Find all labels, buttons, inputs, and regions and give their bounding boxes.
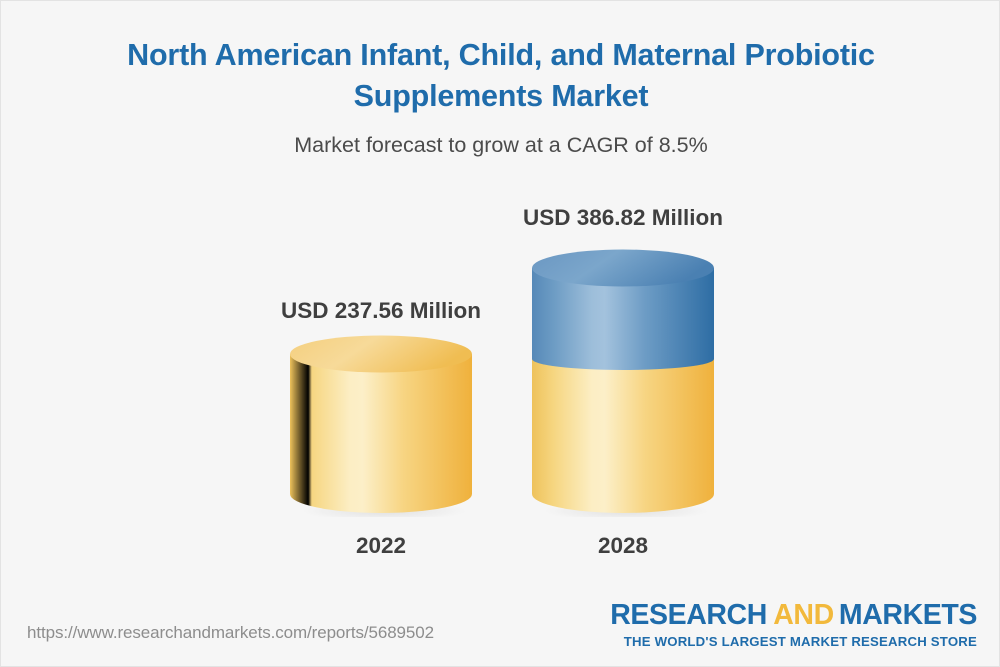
bar-cylinder-2028-svg xyxy=(530,249,716,517)
bar-value-label-2022: USD 237.56 Million xyxy=(201,300,561,323)
bar-cylinder-2022-svg xyxy=(288,335,474,517)
brand-tagline: THE WORLD'S LARGEST MARKET RESEARCH STOR… xyxy=(610,635,977,648)
brand-logo-wordmark: RESEARCHANDMARKETS xyxy=(610,601,977,630)
bar-category-label-2022: 2022 xyxy=(241,535,521,558)
bar-cylinder-2022 xyxy=(288,335,474,517)
brand-word-and: AND xyxy=(773,599,834,631)
brand-word-research: RESEARCH xyxy=(610,599,767,631)
brand-word-markets: MARKETS xyxy=(839,599,977,631)
bar-cylinder-2028 xyxy=(530,249,716,517)
bar-category-label-2028: 2028 xyxy=(483,535,763,558)
chart-plot-area: USD 237.56 Million 2022 xyxy=(1,1,1000,667)
bar-value-label-2028: USD 386.82 Million xyxy=(443,207,803,230)
source-url[interactable]: https://www.researchandmarkets.com/repor… xyxy=(27,623,434,643)
brand-logo: RESEARCHANDMARKETS THE WORLD'S LARGEST M… xyxy=(610,601,977,648)
infographic-canvas: North American Infant, Child, and Matern… xyxy=(0,0,1000,667)
